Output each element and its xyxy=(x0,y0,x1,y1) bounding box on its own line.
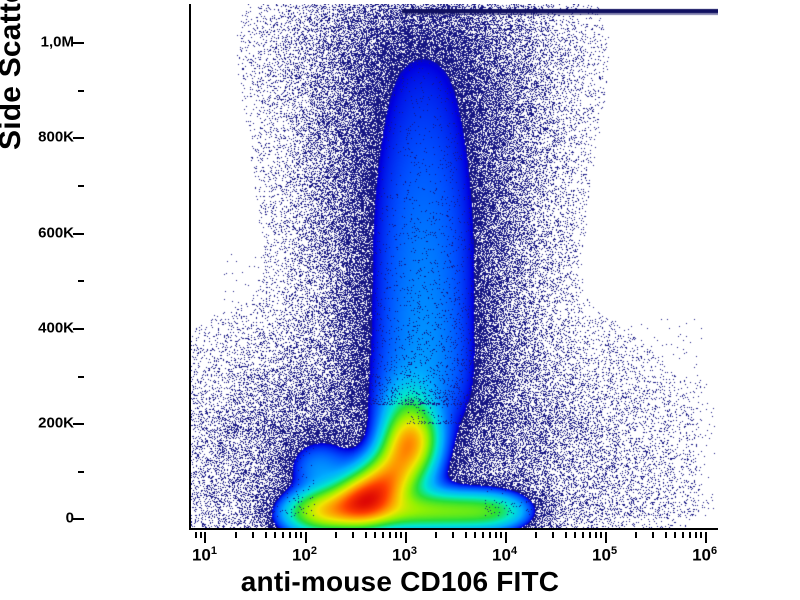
x-tick-minor xyxy=(265,532,267,538)
x-tick-minor xyxy=(289,532,291,538)
x-tick-major xyxy=(204,532,206,543)
x-tick-minor xyxy=(595,532,597,538)
x-tick-major xyxy=(505,532,507,543)
y-tick-major xyxy=(73,42,84,44)
x-tick-minor xyxy=(482,532,484,538)
x-tick-minor xyxy=(582,532,584,538)
x-tick-minor xyxy=(682,532,684,538)
x-tick-minor xyxy=(382,532,384,538)
y-axis-title: Side Scatter xyxy=(0,0,28,150)
x-tick-minor xyxy=(589,532,591,538)
y-tick-label: 200K xyxy=(38,415,74,432)
x-tick-label: 105 xyxy=(592,545,617,566)
density-plot-layer xyxy=(191,4,718,528)
x-tick-major xyxy=(705,532,707,543)
x-tick-minor xyxy=(695,532,697,538)
x-tick-label: 103 xyxy=(392,545,417,566)
x-tick-minor xyxy=(700,532,702,538)
x-tick-minor xyxy=(600,532,602,538)
y-tick-label: 800K xyxy=(38,129,74,146)
x-tick-minor xyxy=(235,532,237,538)
y-tick-major xyxy=(73,423,84,425)
x-tick-minor xyxy=(435,532,437,538)
x-tick-minor xyxy=(689,532,691,538)
flow-cytometry-plot-root: Side Scatter 0200K400K600K800K1,0M 10110… xyxy=(0,0,800,600)
plot-area xyxy=(189,4,718,530)
x-tick-minor xyxy=(352,532,354,538)
x-tick-minor xyxy=(374,532,376,538)
x-axis-title: anti-mouse CD106 FITC xyxy=(0,566,800,598)
x-tick-minor xyxy=(652,532,654,538)
x-tick-minor xyxy=(574,532,576,538)
y-tick-minor xyxy=(78,280,84,282)
x-tick-minor xyxy=(489,532,491,538)
x-tick-major xyxy=(605,532,607,543)
x-tick-minor xyxy=(674,532,676,538)
y-tick-major xyxy=(73,137,84,139)
y-tick-label: 600K xyxy=(38,224,74,241)
x-tick-major xyxy=(305,532,307,543)
x-tick-label: 104 xyxy=(492,545,517,566)
x-tick-minor xyxy=(389,532,391,538)
x-tick-minor xyxy=(465,532,467,538)
y-tick-major xyxy=(73,328,84,330)
x-tick-minor xyxy=(452,532,454,538)
x-tick-minor xyxy=(335,532,337,538)
x-tick-minor xyxy=(535,532,537,538)
x-tick-minor xyxy=(295,532,297,538)
x-tick-minor xyxy=(500,532,502,538)
x-tick-minor xyxy=(395,532,397,538)
x-tick-label: 101 xyxy=(192,545,217,566)
x-tick-label: 106 xyxy=(692,545,717,566)
x-tick-label: 102 xyxy=(292,545,317,566)
x-tick-minor xyxy=(282,532,284,538)
x-tick-minor xyxy=(665,532,667,538)
x-tick-minor xyxy=(195,532,197,538)
x-tick-major xyxy=(405,532,407,543)
x-tick-minor xyxy=(552,532,554,538)
x-tick-minor xyxy=(200,532,202,538)
x-tick-minor xyxy=(474,532,476,538)
y-tick-major xyxy=(73,233,84,235)
density-scatter-canvas xyxy=(191,4,718,528)
x-tick-minor xyxy=(495,532,497,538)
y-tick-label: 400K xyxy=(38,319,74,336)
x-tick-minor xyxy=(300,532,302,538)
y-tick-major xyxy=(73,518,84,520)
x-tick-minor xyxy=(635,532,637,538)
x-tick-minor xyxy=(274,532,276,538)
y-tick-minor xyxy=(78,185,84,187)
x-tick-minor xyxy=(565,532,567,538)
y-tick-label: 0 xyxy=(66,510,74,527)
y-tick-minor xyxy=(78,471,84,473)
y-tick-label: 1,0M xyxy=(41,34,74,51)
y-tick-minor xyxy=(78,90,84,92)
x-tick-minor xyxy=(252,532,254,538)
y-tick-minor xyxy=(78,376,84,378)
x-tick-minor xyxy=(400,532,402,538)
x-tick-minor xyxy=(365,532,367,538)
